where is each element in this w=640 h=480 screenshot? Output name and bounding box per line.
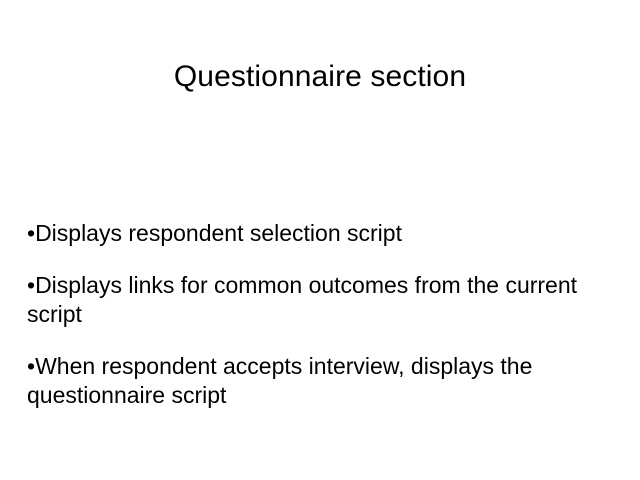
list-item-label: Displays respondent selection script (35, 220, 402, 246)
bullet-point-icon: • (27, 353, 35, 379)
page-title: Questionnaire section (0, 58, 640, 96)
list-item-label: When respondent accepts interview, displ… (27, 353, 532, 408)
bullet-list: •Displays respondent selection script •D… (27, 196, 613, 433)
presentation-slide: Questionnaire section •Displays responde… (0, 0, 640, 480)
bullet-point-icon: • (27, 220, 35, 246)
list-item: •When respondent accepts interview, disp… (27, 352, 613, 410)
list-item: •Displays links for common outcomes from… (27, 271, 613, 329)
list-item: •Displays respondent selection script (27, 219, 613, 248)
bullet-point-icon: • (27, 272, 35, 298)
list-item-label: Displays links for common outcomes from … (27, 272, 577, 327)
